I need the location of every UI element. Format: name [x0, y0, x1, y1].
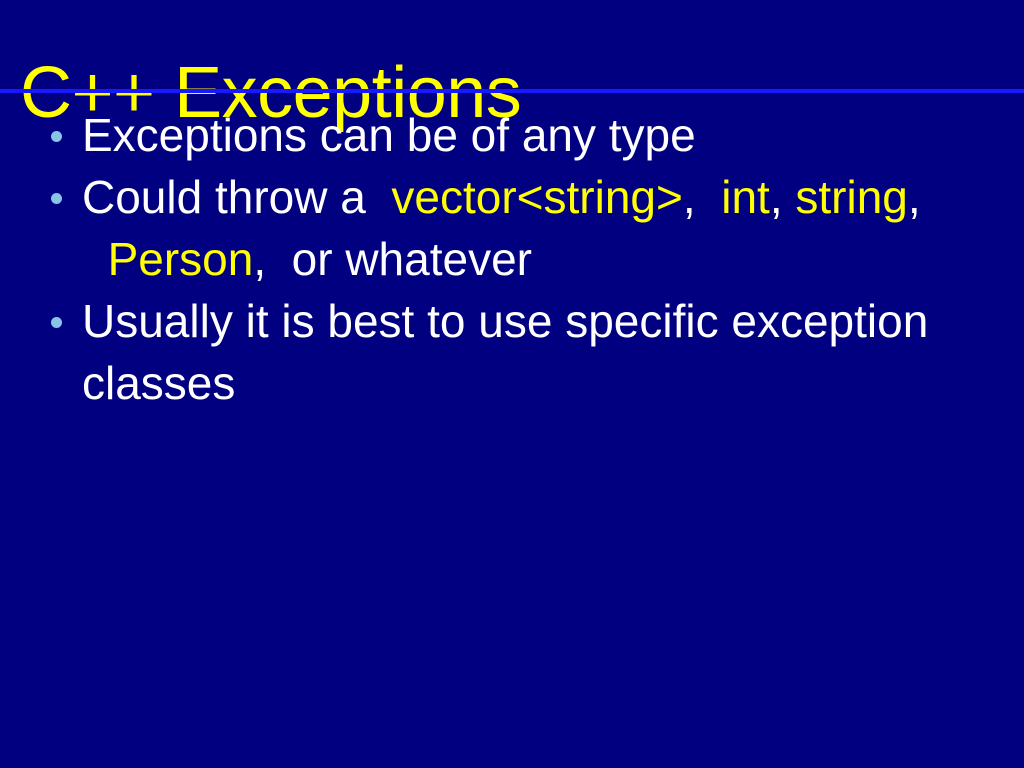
run-space: [696, 171, 722, 223]
run-comma: ,: [253, 233, 266, 285]
run-space: [82, 233, 108, 285]
list-item-label: Exceptions can be of any type: [82, 104, 1000, 166]
bullet-list: Exceptions can be of any type Could thro…: [40, 104, 1000, 414]
run-code-string: string: [795, 171, 907, 223]
run-comma: ,: [770, 171, 783, 223]
run-code-int: int: [721, 171, 770, 223]
run-comma: ,: [683, 171, 696, 223]
run-space: [783, 171, 796, 223]
list-item-label: Usually it is best to use specific excep…: [82, 290, 1000, 414]
bullet-dot-icon: [51, 317, 62, 328]
run-text: Could throw a: [82, 171, 366, 223]
bullet-dot-icon: [51, 193, 62, 204]
slide-canvas: C++ Exceptions Exceptions can be of any …: [0, 0, 1024, 768]
run-space: [366, 171, 392, 223]
list-item: Could throw a vector<string>, int, strin…: [40, 166, 1000, 290]
list-item: Usually it is best to use specific excep…: [40, 290, 1000, 414]
list-item: Exceptions can be of any type: [40, 104, 1000, 166]
run-text: or whatever: [292, 233, 532, 285]
bullet-dot-icon: [51, 131, 62, 142]
run-code-vector-string: vector<string>: [391, 171, 682, 223]
run-code-person: Person: [108, 233, 254, 285]
title-divider: [0, 89, 1024, 93]
run-space: [266, 233, 292, 285]
list-item-label: Could throw a vector<string>, int, strin…: [82, 166, 1000, 290]
run-comma: ,: [908, 171, 921, 223]
